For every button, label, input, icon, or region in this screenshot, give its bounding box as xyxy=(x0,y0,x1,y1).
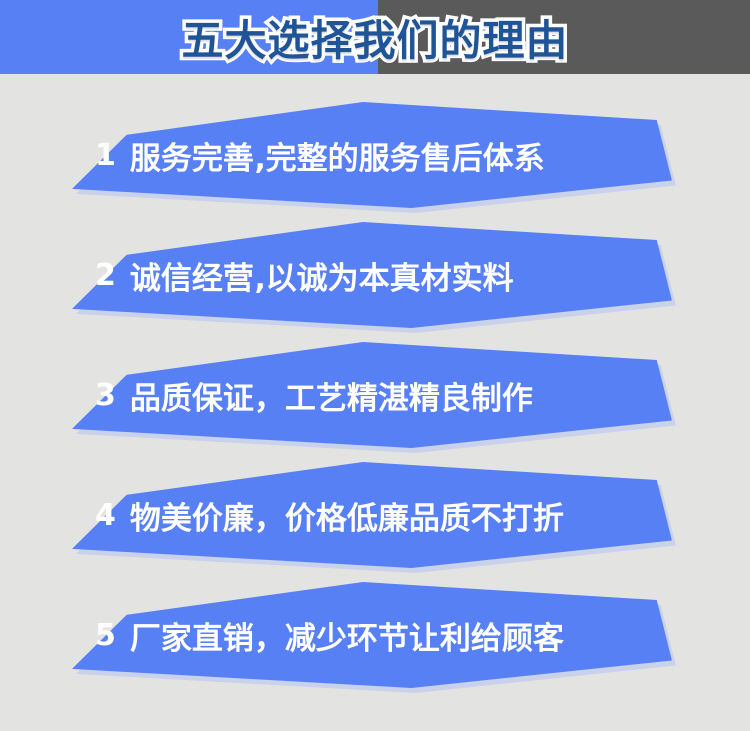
reasons-list: 1 服务完善‚完整的服务售后体系 2 诚信经营‚以诚为本真材实料 3 品质保证，… xyxy=(0,74,750,731)
header-banner: 五大选择我们的理由 xyxy=(0,0,750,74)
list-item[interactable]: 1 服务完善‚完整的服务售后体系 xyxy=(0,96,750,216)
reason-label: 服务完善‚完整的服务售后体系 xyxy=(130,133,545,178)
banner-content: 3 品质保证，工艺精湛精良制作 xyxy=(95,342,655,448)
reason-index: 3 xyxy=(95,378,116,413)
banner-content: 1 服务完善‚完整的服务售后体系 xyxy=(95,102,655,208)
reason-label: 厂家直销，减少环节让利给顾客 xyxy=(130,613,564,658)
banner-content: 2 诚信经营‚以诚为本真材实料 xyxy=(95,222,655,328)
list-item[interactable]: 4 物美价廉，价格低廉品质不打折 xyxy=(0,456,750,576)
page-title: 五大选择我们的理由 xyxy=(0,0,750,74)
reason-label: 物美价廉，价格低廉品质不打折 xyxy=(130,493,564,538)
reason-label: 诚信经营‚以诚为本真材实料 xyxy=(130,253,514,298)
banner-content: 4 物美价廉，价格低廉品质不打折 xyxy=(95,462,655,568)
reason-index: 4 xyxy=(95,498,116,533)
reason-index: 5 xyxy=(95,618,116,653)
list-item[interactable]: 2 诚信经营‚以诚为本真材实料 xyxy=(0,216,750,336)
list-item[interactable]: 5 厂家直销，减少环节让利给顾客 xyxy=(0,576,750,696)
reason-label: 品质保证，工艺精湛精良制作 xyxy=(130,373,533,418)
reason-index: 1 xyxy=(95,138,116,173)
banner-content: 5 厂家直销，减少环节让利给顾客 xyxy=(95,582,655,688)
reason-index: 2 xyxy=(95,258,116,293)
list-item[interactable]: 3 品质保证，工艺精湛精良制作 xyxy=(0,336,750,456)
